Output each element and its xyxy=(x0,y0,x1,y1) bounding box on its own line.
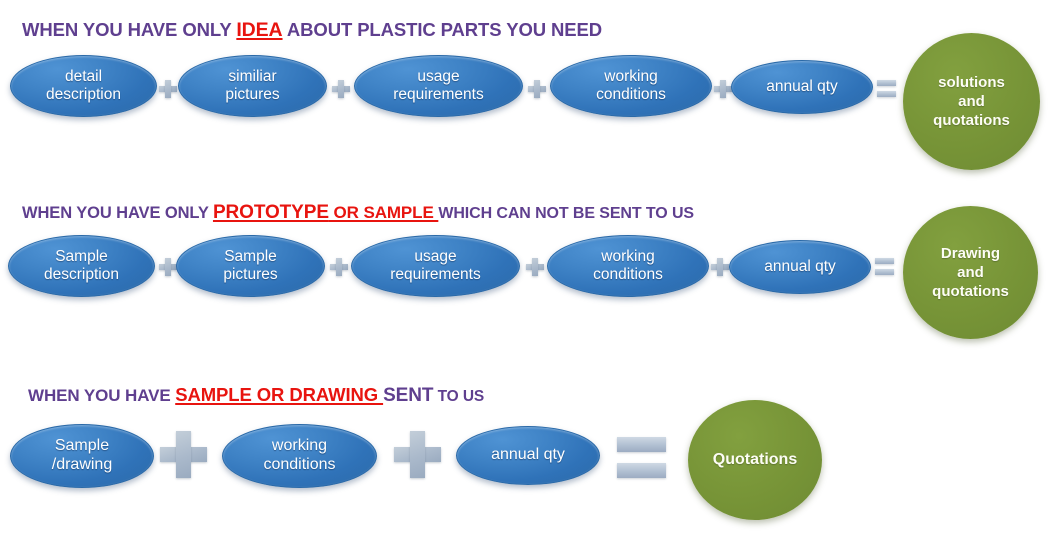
row-2-heading-pre: WHEN YOU HAVE ONLY xyxy=(22,204,213,222)
row-1-heading-post: ABOUT PLASTIC PARTS YOU NEED xyxy=(283,19,603,40)
node-label-line2: requirements xyxy=(393,86,483,103)
result-label: solutionsandquotations xyxy=(933,73,1010,131)
equals-bar-bottom xyxy=(617,463,666,478)
equals-bar-top xyxy=(875,258,894,264)
node-label: similiarpictures xyxy=(215,68,289,105)
row-1-heading: WHEN YOU HAVE ONLY IDEA ABOUT PLASTIC PA… xyxy=(22,19,602,42)
node-label: annual qty xyxy=(756,78,848,96)
row-1-equals-icon xyxy=(877,80,896,97)
node-label-line2: /drawing xyxy=(52,456,112,473)
equals-bar-top xyxy=(617,437,666,452)
equals-bar-bottom xyxy=(877,91,896,97)
row-2-plus-icon-2 xyxy=(330,258,348,276)
row-3-heading: WHEN YOU HAVE SAMPLE OR DRAWING SENT TO … xyxy=(28,384,484,407)
node-label-line2: requirements xyxy=(390,266,480,283)
row-1-node-working-conditions[interactable]: workingconditions xyxy=(550,55,712,117)
equals-bar-top xyxy=(877,80,896,86)
plus-bar-vertical xyxy=(338,80,344,98)
node-label-line2: pictures xyxy=(225,86,279,103)
row-3-equals-icon xyxy=(617,437,666,478)
row-3-result-quotations[interactable]: Quotations xyxy=(688,400,822,520)
row-3-plus-icon-2 xyxy=(394,431,441,478)
row-3-heading-post: SENT xyxy=(383,385,433,406)
result-label: Quotations xyxy=(713,450,797,470)
row-1-node-usage-requirements[interactable]: usagerequirements xyxy=(354,55,523,117)
node-label-line2: pictures xyxy=(223,266,277,283)
result-label-line2: and xyxy=(957,264,984,281)
plus-bar-vertical xyxy=(717,258,723,276)
node-label: workingconditions xyxy=(586,68,676,105)
plus-bar-vertical xyxy=(165,80,171,98)
row-3-heading-highlight: SAMPLE OR DRAWING xyxy=(175,384,383,405)
row-3-node-annual-qty[interactable]: annual qty xyxy=(456,426,600,485)
row-2-plus-icon-4 xyxy=(711,258,729,276)
plus-bar-vertical xyxy=(720,80,726,98)
row-2-heading-highlight-2: OR SAMPLE xyxy=(329,203,438,222)
row-1-node-similiar-pictures[interactable]: similiarpictures xyxy=(178,55,327,117)
plus-bar-vertical xyxy=(165,258,171,276)
row-2-node-usage-requirements[interactable]: usagerequirements xyxy=(351,235,520,297)
row-2-node-working-conditions[interactable]: workingconditions xyxy=(547,235,709,297)
row-1-node-annual-qty[interactable]: annual qty xyxy=(731,60,873,114)
node-label-line1: Sample xyxy=(55,248,108,265)
row-1-plus-icon-2 xyxy=(332,80,350,98)
row-2-heading-highlight: PROTOTYPE xyxy=(213,202,329,223)
node-label: Sampledescription xyxy=(34,248,129,285)
plus-bar-vertical xyxy=(410,431,426,478)
node-label-line1: annual qty xyxy=(764,258,836,275)
row-1-node-detail-description[interactable]: detaildescription xyxy=(10,55,157,117)
node-label-line1: detail xyxy=(65,68,102,85)
equals-bar-bottom xyxy=(875,269,894,275)
row-1-heading-highlight: IDEA xyxy=(236,19,282,41)
row-2-equals-icon xyxy=(875,258,894,275)
plus-bar-vertical xyxy=(532,258,538,276)
node-label: usagerequirements xyxy=(383,68,493,105)
node-label: annual qty xyxy=(754,258,846,276)
node-label-line1: working xyxy=(272,437,327,454)
diagram-canvas: WHEN YOU HAVE ONLY IDEA ABOUT PLASTIC PA… xyxy=(0,0,1060,537)
row-2-node-sample-pictures[interactable]: Samplepictures xyxy=(176,235,325,297)
row-2-plus-icon-3 xyxy=(526,258,544,276)
row-3-node-sample-drawing[interactable]: Sample/drawing xyxy=(10,424,154,488)
result-label-line1: Drawing xyxy=(941,245,1000,262)
node-label-line1: usage xyxy=(414,248,456,265)
row-2-heading: WHEN YOU HAVE ONLY PROTOTYPE OR SAMPLE W… xyxy=(22,202,694,224)
row-3-plus-icon-1 xyxy=(160,431,207,478)
node-label: detaildescription xyxy=(36,68,131,105)
plus-bar-vertical xyxy=(534,80,540,98)
node-label-line1: working xyxy=(604,68,657,85)
result-label-line3: quotations xyxy=(932,283,1009,300)
row-2-plus-icon-1 xyxy=(159,258,177,276)
row-2-result-drawing-and-quotations[interactable]: Drawingandquotations xyxy=(903,206,1038,339)
node-label-line1: annual qty xyxy=(766,78,838,95)
node-label: Samplepictures xyxy=(213,248,287,285)
node-label-line1: Sample xyxy=(224,248,277,265)
node-label: Sample/drawing xyxy=(42,437,122,475)
result-label-line1: solutions xyxy=(938,74,1005,91)
result-label-line2: and xyxy=(958,93,985,110)
node-label-line1: usage xyxy=(417,68,459,85)
row-2-heading-post: WHICH CAN NOT BE SENT TO US xyxy=(438,205,694,222)
node-label-line2: conditions xyxy=(596,86,666,103)
row-1-plus-icon-4 xyxy=(714,80,732,98)
node-label: usagerequirements xyxy=(380,248,490,285)
result-label-line1: Quotations xyxy=(713,451,797,468)
node-label-line2: description xyxy=(44,266,119,283)
node-label-line2: conditions xyxy=(263,456,335,473)
row-3-heading-pre: WHEN YOU HAVE xyxy=(28,386,175,405)
plus-bar-vertical xyxy=(336,258,342,276)
node-label-line2: description xyxy=(46,86,121,103)
row-3-heading-post-2: TO US xyxy=(433,388,484,405)
row-1-heading-pre: WHEN YOU HAVE ONLY xyxy=(22,19,236,40)
node-label-line1: annual qty xyxy=(491,446,565,463)
row-2-node-sample-description[interactable]: Sampledescription xyxy=(8,235,155,297)
node-label: workingconditions xyxy=(583,248,673,285)
node-label-line1: similiar xyxy=(228,68,276,85)
result-label-line3: quotations xyxy=(933,112,1010,129)
row-3-node-working-conditions[interactable]: workingconditions xyxy=(222,424,377,488)
row-2-node-annual-qty[interactable]: annual qty xyxy=(729,240,871,294)
node-label-line1: working xyxy=(601,248,654,265)
plus-bar-vertical xyxy=(176,431,192,478)
row-1-plus-icon-1 xyxy=(159,80,177,98)
row-1-plus-icon-3 xyxy=(528,80,546,98)
node-label-line1: Sample xyxy=(55,437,109,454)
node-label-line2: conditions xyxy=(593,266,663,283)
row-1-result-solutions-and-quotations[interactable]: solutionsandquotations xyxy=(903,33,1040,170)
node-label: annual qty xyxy=(481,446,575,465)
node-label: workingconditions xyxy=(253,437,345,475)
result-label: Drawingandquotations xyxy=(932,244,1009,302)
